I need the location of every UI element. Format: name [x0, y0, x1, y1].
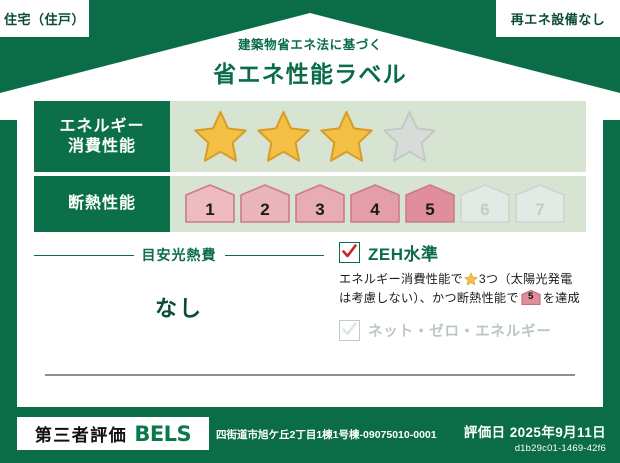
- energy-performance-value: [170, 101, 586, 172]
- evaluation-date-label: 評価日: [464, 425, 506, 440]
- energy-performance-label-line2: 消費性能: [68, 137, 136, 157]
- bels-logo: BELS: [134, 422, 191, 446]
- inline-star-icon: [464, 272, 478, 286]
- insulation-performance-value: 1234567: [170, 176, 586, 232]
- insulation-level-house: 5: [404, 184, 456, 224]
- insulation-level-house: 2: [239, 184, 291, 224]
- utility-cost-block: 目安光熱費 なし: [34, 245, 324, 323]
- energy-performance-label-line1: エネルギー: [59, 117, 144, 137]
- insulation-level-house: 6: [459, 184, 511, 224]
- star-filled-icon: [318, 109, 375, 164]
- star-empty-icon: [381, 109, 438, 164]
- star-rating: [192, 109, 438, 164]
- rule-left: [34, 255, 134, 256]
- bels-jp-label: 第三者評価: [35, 421, 128, 446]
- insulation-level-number: 6: [459, 200, 511, 220]
- title-subtitle: 建築物省エネ法に基づく: [0, 34, 620, 53]
- insulation-performance-label-text: 断熱性能: [68, 194, 136, 214]
- footer: 第三者評価 BELS 四街道市旭ケ丘2丁目1棟1号棟-09075010-0001…: [0, 407, 620, 463]
- title-main: 省エネ性能ラベル: [0, 55, 620, 89]
- utility-cost-value: なし: [34, 291, 324, 323]
- zeh-desc-part3: は考慮しない）、かつ断熱性能で: [339, 291, 519, 305]
- tag-renewable-equipment-label: 再エネ設備なし: [511, 9, 606, 28]
- rule-right: [225, 255, 325, 256]
- zeh-block: ZEH水準 エネルギー消費性能で3つ（太陽光発電 は考慮しない）、かつ断熱性能で…: [339, 240, 589, 341]
- zeh-description: エネルギー消費性能で3つ（太陽光発電 は考慮しない）、かつ断熱性能で5を達成: [339, 270, 589, 307]
- inline-house-level: 5: [521, 290, 541, 304]
- zeh-desc-part2: 3つ（太陽光発電: [479, 272, 573, 286]
- net-zero-energy-row: ネット・ゼロ・エネルギー: [339, 320, 589, 341]
- evaluation-date-value: 2025年9月11日: [510, 425, 606, 440]
- zeh-heading: ZEH水準: [339, 240, 589, 265]
- document-id: d1b29c01-1469-42f6: [464, 443, 606, 454]
- bels-badge: 第三者評価 BELS: [17, 417, 209, 450]
- tag-renewable-equipment: 再エネ設備なし: [496, 0, 620, 37]
- zeh-desc-part4: を達成: [543, 291, 580, 305]
- insulation-performance-row: 断熱性能 1234567: [34, 176, 586, 232]
- insulation-performance-label: 断熱性能: [34, 176, 170, 232]
- energy-label-board: 住宅（住戸） 再エネ設備なし 建築物省エネ法に基づく 省エネ性能ラベル エネルギ…: [0, 0, 620, 463]
- tag-building-type: 住宅（住戸）: [0, 0, 89, 37]
- insulation-level-house: 1: [184, 184, 236, 224]
- inline-house-icon: 5: [521, 290, 541, 305]
- insulation-level-house: 3: [294, 184, 346, 224]
- insulation-level-number: 1: [184, 200, 236, 220]
- net-zero-energy-label: ネット・ゼロ・エネルギー: [368, 320, 552, 341]
- insulation-level-house: 7: [514, 184, 566, 224]
- evaluation-date-line: 評価日 2025年9月11日: [464, 421, 606, 441]
- main-panel: エネルギー 消費性能 断熱性能 1234567 目安光熱費 なし: [17, 90, 603, 407]
- insulation-level-house: 4: [349, 184, 401, 224]
- zeh-title: ZEH水準: [368, 240, 439, 265]
- insulation-level-number: 4: [349, 200, 401, 220]
- panel-divider: [45, 374, 575, 376]
- utility-cost-heading: 目安光熱費: [34, 245, 324, 265]
- insulation-level-number: 5: [404, 200, 456, 220]
- utility-cost-heading-text: 目安光熱費: [142, 245, 217, 265]
- checkbox-checked-icon[interactable]: [339, 242, 360, 263]
- insulation-level-number: 2: [239, 200, 291, 220]
- energy-performance-label: エネルギー 消費性能: [34, 101, 170, 172]
- checkbox-unchecked-icon[interactable]: [339, 320, 360, 341]
- footer-address: 四街道市旭ケ丘2丁目1棟1号棟-09075010-0001: [216, 427, 437, 442]
- insulation-level-number: 7: [514, 200, 566, 220]
- zeh-desc-part1: エネルギー消費性能で: [339, 272, 463, 286]
- star-filled-icon: [192, 109, 249, 164]
- insulation-level-scale: 1234567: [184, 184, 566, 224]
- star-filled-icon: [255, 109, 312, 164]
- insulation-level-number: 3: [294, 200, 346, 220]
- tag-building-type-label: 住宅（住戸）: [4, 9, 85, 28]
- energy-performance-row: エネルギー 消費性能: [34, 101, 586, 172]
- label-title: 建築物省エネ法に基づく 省エネ性能ラベル: [0, 34, 620, 89]
- footer-evaluation-date: 評価日 2025年9月11日 d1b29c01-1469-42f6: [464, 421, 606, 454]
